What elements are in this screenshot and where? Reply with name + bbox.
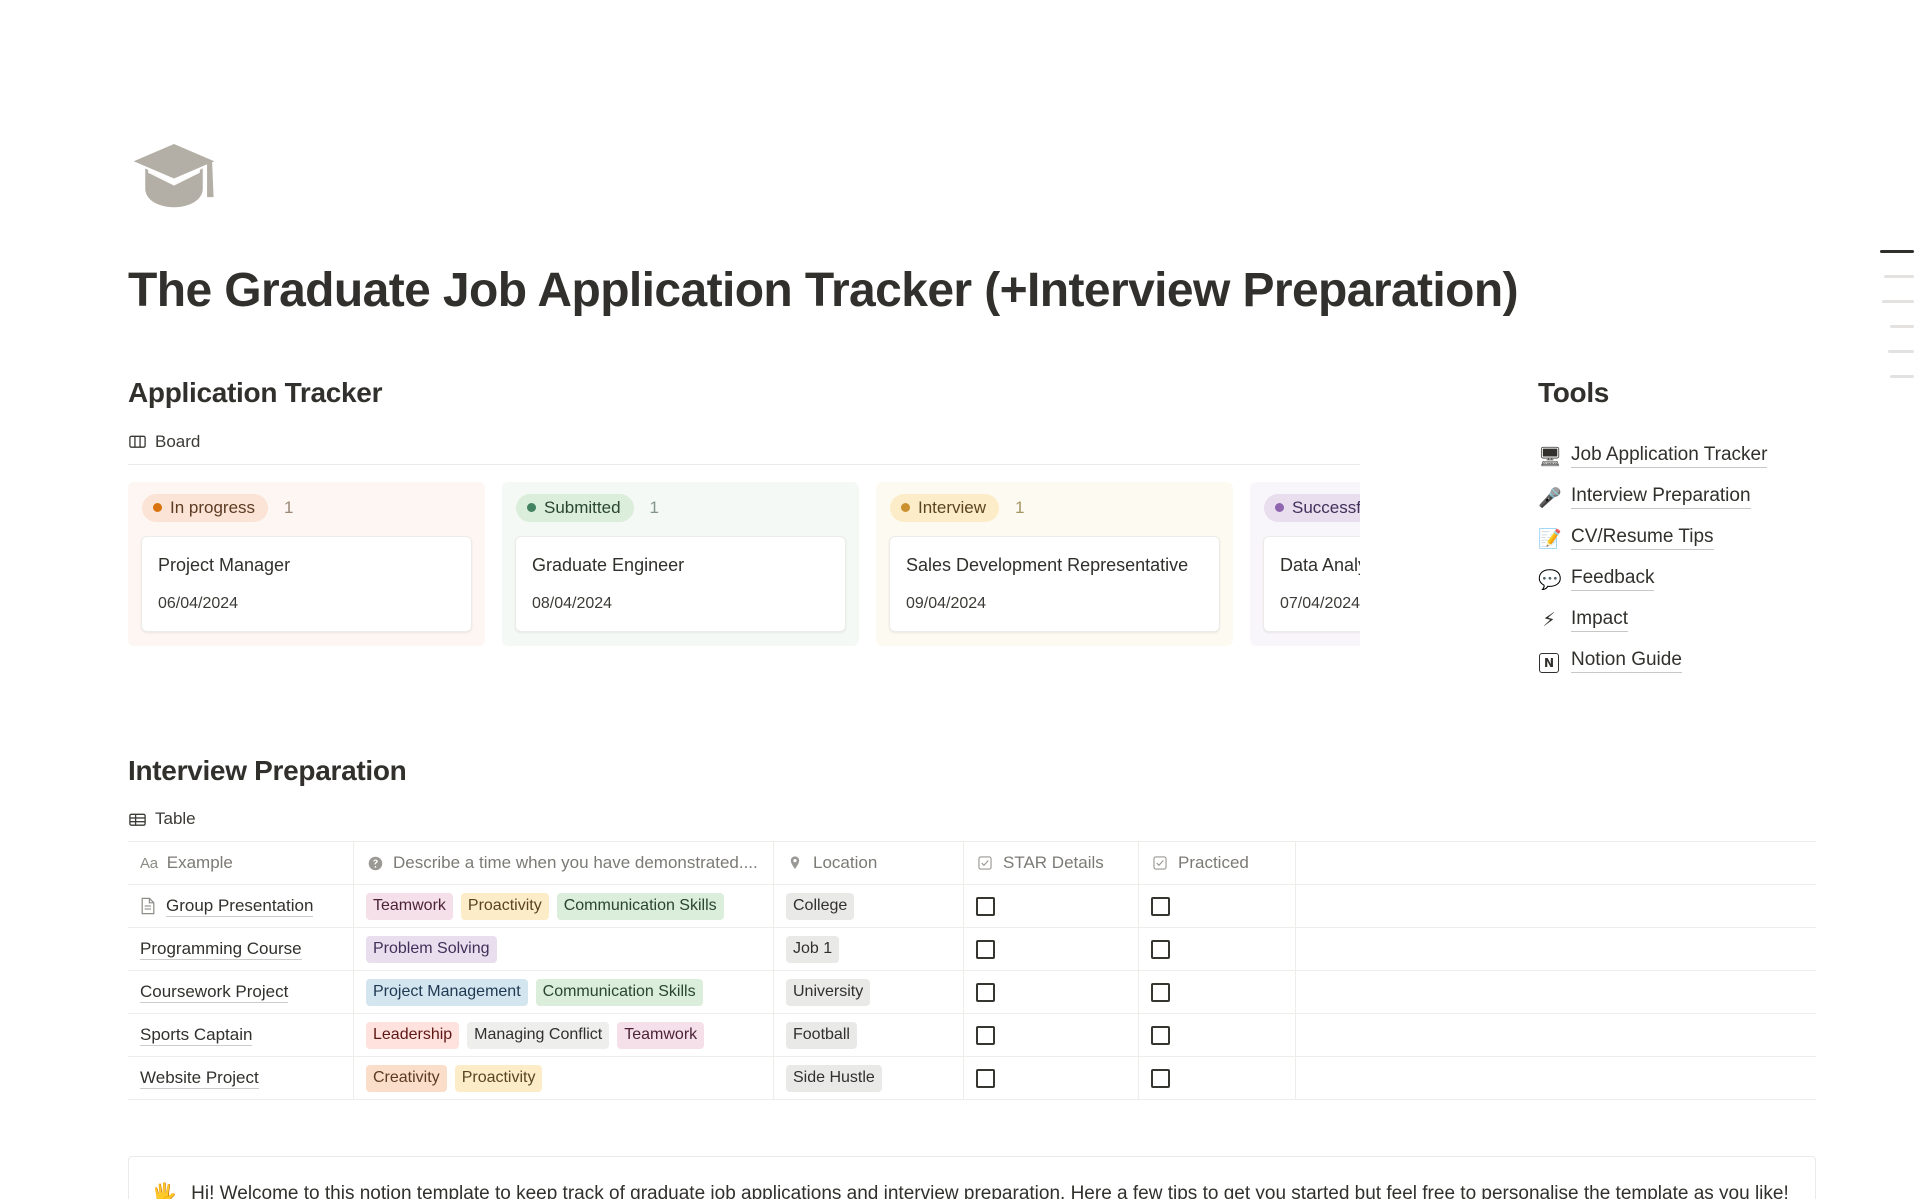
cell-practiced[interactable] (1139, 1014, 1296, 1056)
column-header: Submitted 1 (502, 490, 859, 522)
board-card[interactable]: Graduate Engineer 08/04/2024 (515, 536, 846, 632)
checkbox-unchecked[interactable] (976, 983, 995, 1002)
outline-dash-6[interactable] (1890, 375, 1914, 378)
board-column-interview[interactable]: Interview 1 Sales Development Representa… (876, 482, 1233, 646)
computer-icon: 🖥 (1538, 445, 1560, 468)
column-header-describe[interactable]: Describe a time when you have demonstrat… (354, 842, 774, 884)
page-outline-rail[interactable] (1850, 250, 1920, 378)
column-header-add[interactable] (1296, 842, 1816, 884)
tag-list: Creativity Proactivity (366, 1065, 542, 1092)
board-divider (128, 464, 1360, 465)
graduation-cap-icon[interactable] (128, 131, 220, 223)
cell-star-details[interactable] (964, 885, 1139, 927)
cell-example[interactable]: Website Project (128, 1057, 354, 1099)
checkbox-unchecked[interactable] (1151, 940, 1170, 959)
board-column-successful[interactable]: Successful Data Analyst 07/04/2024 (1250, 482, 1360, 646)
table-view-label: Table (155, 809, 196, 829)
column-header: Successful (1250, 490, 1360, 522)
checkbox-unchecked[interactable] (1151, 1069, 1170, 1088)
cell-describe[interactable]: Project Management Communication Skills (354, 971, 774, 1013)
cell-star-details[interactable] (964, 1014, 1139, 1056)
column-header-location[interactable]: Location (774, 842, 964, 884)
tag: Project Management (366, 979, 528, 1006)
board-view-icon (128, 432, 147, 451)
cell-practiced[interactable] (1139, 1057, 1296, 1099)
notion-page: The Graduate Job Application Tracker (+I… (0, 0, 1920, 1199)
card-title: Data Analyst (1280, 554, 1360, 577)
board-card[interactable]: Sales Development Representative 09/04/2… (889, 536, 1220, 632)
microphone-icon: 🎤 (1538, 486, 1560, 509)
board-column-in-progress[interactable]: In progress 1 Project Manager 06/04/2024 (128, 482, 485, 646)
table-row[interactable]: Coursework Project Project Management Co… (128, 971, 1816, 1014)
board-card[interactable]: Data Analyst 07/04/2024 (1263, 536, 1360, 632)
tool-label: Interview Preparation (1571, 485, 1751, 509)
cell-describe[interactable]: Creativity Proactivity (354, 1057, 774, 1099)
tag: Leadership (366, 1022, 459, 1049)
cell-location[interactable]: University (774, 971, 964, 1013)
card-title: Graduate Engineer (532, 554, 829, 577)
location-tag: Job 1 (786, 936, 839, 963)
column-header-label: Describe a time when you have demonstrat… (393, 853, 758, 873)
kanban-board[interactable]: In progress 1 Project Manager 06/04/2024 (128, 464, 1360, 646)
cell-example[interactable]: Coursework Project (128, 971, 354, 1013)
cell-location[interactable]: College (774, 885, 964, 927)
status-label: Interview (918, 497, 986, 518)
speech-balloon-icon: 💬 (1538, 568, 1560, 591)
tag: Creativity (366, 1065, 447, 1092)
callout-paragraph: Hi! Welcome to this notion template to k… (191, 1179, 1789, 1199)
application-tracker-heading: Application Tracker (128, 376, 1360, 410)
cell-describe[interactable]: Teamwork Proactivity Communication Skill… (354, 885, 774, 927)
card-title: Sales Development Representative (906, 554, 1203, 577)
column-header-star-details[interactable]: STAR Details (964, 842, 1139, 884)
tag-list: Teamwork Proactivity Communication Skill… (366, 893, 724, 920)
tag: Communication Skills (557, 893, 724, 920)
tool-link-cv-resume-tips[interactable]: 📝 CV/Resume Tips (1538, 518, 1780, 559)
card-date: 08/04/2024 (532, 595, 829, 613)
status-dot-icon (527, 503, 536, 512)
board-view-tab[interactable]: Board (128, 432, 1360, 452)
table-row[interactable]: Programming Course Problem Solving Job 1 (128, 928, 1816, 971)
location-tag: Football (786, 1022, 857, 1049)
cell-star-details[interactable] (964, 1057, 1139, 1099)
checkbox-unchecked[interactable] (976, 1026, 995, 1045)
cell-location[interactable]: Football (774, 1014, 964, 1056)
cell-location[interactable]: Job 1 (774, 928, 964, 970)
column-header-example[interactable]: Aa Example (128, 842, 354, 884)
tag: Proactivity (455, 1065, 543, 1092)
status-dot-icon (153, 503, 162, 512)
cell-location[interactable]: Side Hustle (774, 1057, 964, 1099)
tool-link-job-application-tracker[interactable]: 🖥 Job Application Tracker (1538, 436, 1780, 477)
board-column-submitted[interactable]: Submitted 1 Graduate Engineer 08/04/2024 (502, 482, 859, 646)
cell-star-details[interactable] (964, 971, 1139, 1013)
table-row[interactable]: Website Project Creativity Proactivity S… (128, 1057, 1816, 1100)
cell-example[interactable]: Programming Course (128, 928, 354, 970)
outline-dash-4[interactable] (1890, 325, 1914, 328)
tag: Communication Skills (536, 979, 703, 1006)
cell-blank (1296, 885, 1816, 927)
cell-example-label: Group Presentation (166, 896, 313, 917)
card-title: Project Manager (158, 554, 455, 577)
column-header-practiced[interactable]: Practiced (1139, 842, 1296, 884)
page-title[interactable]: The Graduate Job Application Tracker (+I… (128, 263, 1828, 318)
cell-blank (1296, 1014, 1816, 1056)
callout-text: Hi! Welcome to this notion template to k… (191, 1179, 1789, 1199)
tool-link-interview-preparation[interactable]: 🎤 Interview Preparation (1538, 477, 1780, 518)
status-label: In progress (170, 497, 255, 518)
checkbox-unchecked[interactable] (976, 897, 995, 916)
cell-example-label: Programming Course (140, 939, 302, 960)
checkbox-unchecked[interactable] (1151, 897, 1170, 916)
tool-link-notion-guide[interactable]: N Notion Guide (1538, 641, 1780, 682)
interview-preparation-heading: Interview Preparation (128, 754, 1828, 788)
notion-logo-glyph: N (1539, 653, 1559, 673)
status-dot-icon (1275, 503, 1284, 512)
tools-list: 🖥 Job Application Tracker 🎤 Interview Pr… (1538, 436, 1780, 682)
table-view-tab[interactable]: Table (128, 809, 1828, 829)
memo-icon: 📝 (1538, 527, 1560, 550)
board-card[interactable]: Project Manager 06/04/2024 (141, 536, 472, 632)
column-header: Interview 1 (876, 490, 1233, 522)
cell-practiced[interactable] (1139, 885, 1296, 927)
location-tag: College (786, 893, 854, 920)
column-header-label: Location (813, 853, 877, 873)
column-header-label: Example (167, 853, 233, 873)
tool-link-feedback[interactable]: 💬 Feedback (1538, 559, 1780, 600)
tag: Teamwork (617, 1022, 704, 1049)
tag: Managing Conflict (467, 1022, 609, 1049)
status-label: Successful (1292, 497, 1360, 518)
card-date: 07/04/2024 (1280, 595, 1360, 613)
column-count: 1 (1015, 498, 1024, 518)
tool-label: CV/Resume Tips (1571, 526, 1714, 550)
map-pin-icon (786, 854, 804, 872)
checkbox-unchecked[interactable] (976, 940, 995, 959)
column-header-label: STAR Details (1003, 853, 1104, 873)
column-header: In progress 1 (128, 490, 485, 522)
status-badge[interactable]: Interview (890, 494, 999, 522)
tag-list: Project Management Communication Skills (366, 979, 703, 1006)
tool-link-impact[interactable]: ⚡ Impact (1538, 600, 1780, 641)
checkbox-unchecked[interactable] (1151, 1026, 1170, 1045)
status-dot-icon (901, 503, 910, 512)
cell-practiced[interactable] (1139, 928, 1296, 970)
table-row[interactable]: Group Presentation Teamwork Proactivity … (128, 885, 1816, 928)
welcome-callout: 🖐 Hi! Welcome to this notion template to… (128, 1156, 1816, 1199)
page-icon (140, 897, 157, 916)
tool-label: Notion Guide (1571, 649, 1682, 673)
text-type-icon: Aa (140, 855, 158, 872)
status-badge[interactable]: Submitted (516, 494, 634, 522)
cell-example[interactable]: Sports Captain (128, 1014, 354, 1056)
checkbox-icon (1151, 854, 1169, 872)
cell-example-label: Sports Captain (140, 1025, 252, 1046)
checkbox-unchecked[interactable] (1151, 983, 1170, 1002)
status-badge[interactable]: In progress (142, 494, 268, 522)
location-tag: University (786, 979, 870, 1006)
status-label: Submitted (544, 497, 621, 518)
cell-practiced[interactable] (1139, 971, 1296, 1013)
outline-dash-1[interactable] (1880, 250, 1914, 253)
outline-dash-3[interactable] (1882, 300, 1914, 303)
tag: Teamwork (366, 893, 453, 920)
cell-describe[interactable]: Problem Solving (354, 928, 774, 970)
tool-label: Impact (1571, 608, 1628, 632)
table-view-icon (128, 810, 147, 829)
board-view-label: Board (155, 432, 200, 452)
raised-hand-icon: 🖐 (151, 1179, 177, 1199)
notion-logo-icon: N (1538, 650, 1560, 673)
tag: Problem Solving (366, 936, 497, 963)
cell-example[interactable]: Group Presentation (128, 885, 354, 927)
card-date: 06/04/2024 (158, 595, 455, 613)
table-header-row: Aa Example Describe a time when you have… (128, 842, 1816, 885)
column-header-label: Practiced (1178, 853, 1249, 873)
interview-preparation-table: Aa Example Describe a time when you have… (128, 841, 1816, 1100)
cell-star-details[interactable] (964, 928, 1139, 970)
tag-list: Leadership Managing Conflict Teamwork (366, 1022, 704, 1049)
table-row[interactable]: Sports Captain Leadership Managing Confl… (128, 1014, 1816, 1057)
outline-dash-2[interactable] (1884, 275, 1914, 278)
tool-label: Job Application Tracker (1571, 444, 1767, 468)
cell-blank (1296, 928, 1816, 970)
tools-heading: Tools (1538, 376, 1780, 410)
cell-blank (1296, 971, 1816, 1013)
cell-example-label: Website Project (140, 1068, 259, 1089)
cell-example-label: Coursework Project (140, 982, 288, 1003)
card-date: 09/04/2024 (906, 595, 1203, 613)
tag-list: Problem Solving (366, 936, 497, 963)
column-count: 1 (650, 498, 659, 518)
checkbox-unchecked[interactable] (976, 1069, 995, 1088)
tag: Proactivity (461, 893, 549, 920)
outline-dash-5[interactable] (1888, 350, 1914, 353)
tool-label: Feedback (1571, 567, 1654, 591)
column-count: 1 (284, 498, 293, 518)
location-tag: Side Hustle (786, 1065, 882, 1092)
status-badge[interactable]: Successful (1264, 494, 1360, 522)
cell-blank (1296, 1057, 1816, 1099)
checkbox-icon (976, 854, 994, 872)
question-mark-icon (366, 854, 384, 872)
lightning-icon: ⚡ (1538, 609, 1560, 631)
cell-describe[interactable]: Leadership Managing Conflict Teamwork (354, 1014, 774, 1056)
